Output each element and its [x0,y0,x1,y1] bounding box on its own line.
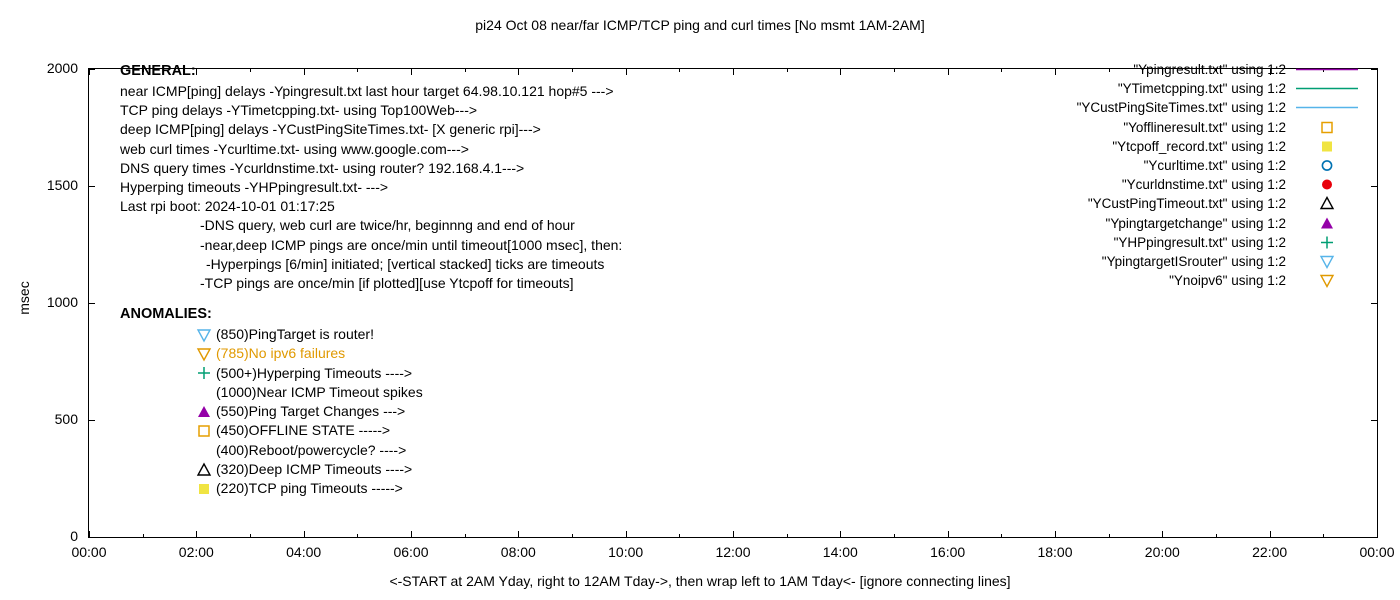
y-tick-label: 1000 [8,294,78,310]
x-tick-label: 12:00 [693,544,773,560]
x-tick-label: 10:00 [586,544,666,560]
x-tick-label: 00:00 [1337,544,1400,560]
general-notes: GENERAL: near ICMP[ping] delays -Ypingre… [120,62,622,293]
x-tick-mark [733,68,734,75]
y-tick-label: 0 [8,528,78,544]
general-note-line: -DNS query, web curl are twice/hr, begin… [120,216,622,235]
legend-key-open-triangle-up-icon [1294,194,1360,213]
general-note-line: Last rpi boot: 2024-10-01 01:17:25 [120,197,622,216]
legend-row: "Ycurldnstime.txt" using 1:2 [948,175,1360,194]
anomaly-row: (400)Reboot/powercycle? ----> [120,441,423,460]
anomaly-filled-triangle-up-icon [194,404,214,420]
x-tick-mark-minor [465,534,466,538]
anomaly-row: (220)TCP ping Timeouts -----> [120,479,423,498]
x-tick-mark [626,531,627,538]
x-axis-caption: <-START at 2AM Yday, right to 12AM Tday-… [0,573,1400,589]
anomaly-label: (500+)Hyperping Timeouts ----> [216,365,412,381]
x-tick-mark-minor [894,534,895,538]
anomalies-heading: ANOMALIES: [120,305,423,324]
legend-key-open-triangle-down-icon [1294,252,1360,271]
general-note-line: Hyperping timeouts -YHPpingresult.txt- -… [120,178,622,197]
anomaly-open-triangle-down-icon [194,346,214,362]
legend: "Ypingresult.txt" using 1:2"YTimetcpping… [948,60,1360,290]
legend-key-line-icon [1294,98,1360,117]
legend-label: "Ytcpoff_record.txt" using 1:2 [1112,139,1286,154]
y-tick-mark [88,420,95,421]
anomaly-row: (785)No ipv6 failures [120,344,423,363]
anomaly-row: (320)Deep ICMP Timeouts ----> [120,460,423,479]
x-tick-mark [304,531,305,538]
x-tick-mark [733,531,734,538]
anomaly-label: (220)TCP ping Timeouts -----> [216,480,403,496]
legend-label: "YHPpingresult.txt" using 1:2 [1114,235,1286,250]
y-tick-label: 500 [8,411,78,427]
x-tick-mark [840,68,841,75]
anomaly-label: (1000)Near ICMP Timeout spikes [216,384,423,400]
x-tick-mark [1162,531,1163,538]
anomaly-notes: ANOMALIES: (850)PingTarget is router!(78… [120,305,423,499]
x-tick-mark-minor [1001,534,1002,538]
x-tick-mark-minor [894,68,895,72]
anomaly-plus-icon [194,365,214,381]
y-tick-label: 2000 [8,60,78,76]
x-tick-mark-minor [1216,534,1217,538]
x-tick-mark [840,531,841,538]
x-tick-label: 20:00 [1122,544,1202,560]
chart-page: pi24 Oct 08 near/far ICMP/TCP ping and c… [0,0,1400,600]
legend-key-line-icon [1294,60,1360,79]
anomaly-row: (1000)Near ICMP Timeout spikes [120,383,423,402]
x-tick-mark-minor [787,534,788,538]
legend-row: "YCustPingSiteTimes.txt" using 1:2 [948,98,1360,117]
legend-label: "Ypingtargetchange" using 1:2 [1106,216,1286,231]
anomaly-row: (450)OFFLINE STATE -----> [120,421,423,440]
legend-key-filled-square-icon [1294,137,1360,156]
legend-label: "YCustPingSiteTimes.txt" using 1:2 [1077,100,1286,115]
y-tick-label: 1500 [8,177,78,193]
legend-key-filled-triangle-up-icon [1294,214,1360,233]
general-note-line: TCP ping delays -YTimetcpping.txt- using… [120,101,622,120]
anomaly-label: (850)PingTarget is router! [216,326,374,342]
anomaly-open-square-icon [194,423,214,439]
y-tick-mark [88,303,95,304]
x-tick-label: 02:00 [156,544,236,560]
legend-row: "YTimetcpping.txt" using 1:2 [948,79,1360,98]
x-tick-mark [948,531,949,538]
x-tick-label: 06:00 [371,544,451,560]
x-tick-mark-minor [787,68,788,72]
legend-label: "YpingtargetISrouter" using 1:2 [1102,254,1286,269]
page-title: pi24 Oct 08 near/far ICMP/TCP ping and c… [0,17,1400,33]
y-tick-mark [1371,186,1378,187]
legend-row: "Ycurltime.txt" using 1:2 [948,156,1360,175]
x-tick-label: 16:00 [908,544,988,560]
legend-label: "Yofflineresult.txt" using 1:2 [1123,120,1286,135]
x-tick-label: 22:00 [1230,544,1310,560]
anomaly-row: (850)PingTarget is router! [120,325,423,344]
general-note-line: -TCP pings are once/min [if plotted][use… [120,274,622,293]
anomaly-label: (550)Ping Target Changes ---> [216,403,405,419]
x-tick-label: 14:00 [800,544,880,560]
legend-label: "YTimetcpping.txt" using 1:2 [1118,81,1286,96]
anomaly-row: (500+)Hyperping Timeouts ----> [120,364,423,383]
general-note-line: -Hyperpings [6/min] initiated; [vertical… [120,255,622,274]
x-tick-mark [1055,531,1056,538]
general-note-line: -near,deep ICMP pings are once/min until… [120,236,622,255]
x-tick-mark [1270,531,1271,538]
legend-row: "Ypingtargetchange" using 1:2 [948,214,1360,233]
x-tick-mark [626,68,627,75]
x-tick-mark [89,531,90,538]
legend-row: "Ypingresult.txt" using 1:2 [948,60,1360,79]
y-tick-mark [88,186,95,187]
x-tick-mark [411,531,412,538]
x-tick-mark [89,68,90,75]
anomaly-open-triangle-up-icon [194,462,214,478]
general-note-line: web curl times -Ycurltime.txt- using www… [120,140,622,159]
x-tick-mark-minor [250,534,251,538]
x-tick-mark-minor [679,534,680,538]
anomaly-filled-square-icon [194,481,214,497]
legend-label: "Ynoipv6" using 1:2 [1169,273,1286,288]
x-tick-mark-minor [143,534,144,538]
legend-row: "Ytcpoff_record.txt" using 1:2 [948,137,1360,156]
x-tick-mark [518,531,519,538]
legend-row: "YCustPingTimeout.txt" using 1:2 [948,194,1360,213]
general-note-line: near ICMP[ping] delays -Ypingresult.txt … [120,82,622,101]
anomaly-open-triangle-down-icon [194,327,214,343]
anomaly-label: (785)No ipv6 failures [216,345,345,361]
general-note-line: deep ICMP[ping] delays -YCustPingSiteTim… [120,120,622,139]
anomaly-label: (450)OFFLINE STATE -----> [216,422,390,438]
x-tick-label: 00:00 [49,544,129,560]
legend-key-open-circle-icon [1294,156,1360,175]
general-heading: GENERAL: [120,62,622,81]
y-tick-mark [1371,303,1378,304]
legend-key-open-triangle-down-icon [1294,271,1360,290]
x-tick-mark-minor [679,68,680,72]
general-note-line: DNS query times -Ycurldnstime.txt- using… [120,159,622,178]
legend-label: "Ypingresult.txt" using 1:2 [1133,62,1286,77]
x-tick-label: 08:00 [478,544,558,560]
anomaly-label: (320)Deep ICMP Timeouts ----> [216,461,412,477]
legend-key-line-icon [1294,79,1360,98]
legend-row: "YHPpingresult.txt" using 1:2 [948,233,1360,252]
legend-row: "Ynoipv6" using 1:2 [948,271,1360,290]
x-tick-mark-minor [1109,534,1110,538]
legend-row: "YpingtargetISrouter" using 1:2 [948,252,1360,271]
x-tick-mark-minor [572,534,573,538]
anomaly-label: (400)Reboot/powercycle? ----> [216,442,406,458]
x-tick-label: 18:00 [1015,544,1095,560]
legend-key-plus-icon [1294,233,1360,252]
anomaly-row: (550)Ping Target Changes ---> [120,402,423,421]
legend-key-open-square-icon [1294,118,1360,137]
x-tick-mark [1377,68,1378,75]
legend-key-filled-circle-icon [1294,175,1360,194]
x-tick-label: 04:00 [264,544,344,560]
x-tick-mark-minor [1323,534,1324,538]
legend-row: "Yofflineresult.txt" using 1:2 [948,118,1360,137]
x-tick-mark [196,531,197,538]
legend-label: "YCustPingTimeout.txt" using 1:2 [1088,196,1286,211]
legend-label: "Ycurldnstime.txt" using 1:2 [1122,177,1286,192]
legend-label: "Ycurltime.txt" using 1:2 [1144,158,1286,173]
y-tick-mark [1371,420,1378,421]
x-tick-mark [1377,531,1378,538]
x-tick-mark-minor [357,534,358,538]
